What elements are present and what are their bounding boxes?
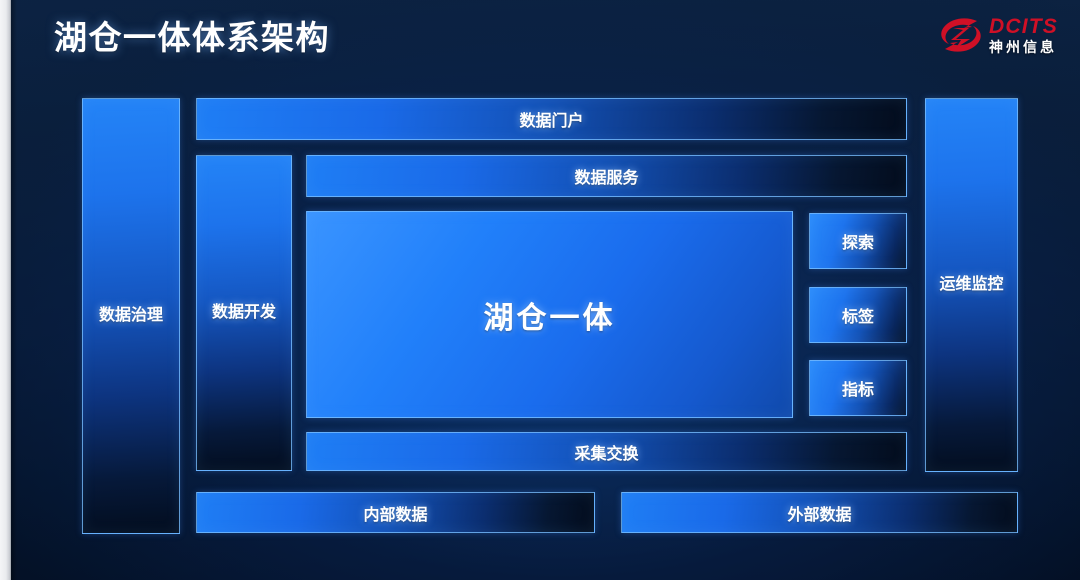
block-tag[interactable]: 标签 xyxy=(809,287,907,343)
block-external-data[interactable]: 外部数据 xyxy=(621,492,1018,533)
logo-wordmark: DCITS 神州信息 xyxy=(989,16,1058,54)
page-title: 湖仓一体体系架构 xyxy=(54,16,330,60)
block-collect-exchange-label: 采集交换 xyxy=(574,440,638,464)
block-data-development[interactable]: 数据开发 xyxy=(196,155,292,471)
block-data-service[interactable]: 数据服务 xyxy=(306,155,907,197)
block-ops-monitoring-label: 运维监控 xyxy=(939,275,1003,295)
logo-chinese-text: 神州信息 xyxy=(989,40,1057,54)
slide-canvas: 湖仓一体体系架构 DCITS 神州信息 数据治理 数据门户 数据开发 数据服务 … xyxy=(0,0,1080,580)
block-explore[interactable]: 探索 xyxy=(809,213,907,269)
block-lakehouse[interactable]: 湖仓一体 xyxy=(306,211,793,418)
block-data-portal[interactable]: 数据门户 xyxy=(196,98,907,140)
page-edge-strip xyxy=(0,0,11,580)
dcits-swirl-icon xyxy=(939,15,983,55)
block-explore-label: 探索 xyxy=(842,229,874,253)
block-internal-data-label: 内部数据 xyxy=(363,501,427,525)
block-data-governance-label: 数据治理 xyxy=(99,306,163,326)
brand-logo: DCITS 神州信息 xyxy=(939,11,1058,59)
block-metric[interactable]: 指标 xyxy=(809,360,907,416)
logo-english-text: DCITS xyxy=(989,16,1058,37)
block-internal-data[interactable]: 内部数据 xyxy=(196,492,595,533)
block-data-portal-label: 数据门户 xyxy=(519,107,583,131)
block-ops-monitoring[interactable]: 运维监控 xyxy=(925,98,1018,472)
block-collect-exchange[interactable]: 采集交换 xyxy=(306,432,907,471)
block-data-service-label: 数据服务 xyxy=(574,164,638,188)
block-metric-label: 指标 xyxy=(842,376,874,400)
block-tag-label: 标签 xyxy=(842,303,874,327)
page-edge-shadow xyxy=(11,0,17,580)
block-data-development-label: 数据开发 xyxy=(212,303,276,323)
block-data-governance[interactable]: 数据治理 xyxy=(82,98,180,534)
block-lakehouse-label: 湖仓一体 xyxy=(484,293,616,337)
block-external-data-label: 外部数据 xyxy=(787,501,851,525)
